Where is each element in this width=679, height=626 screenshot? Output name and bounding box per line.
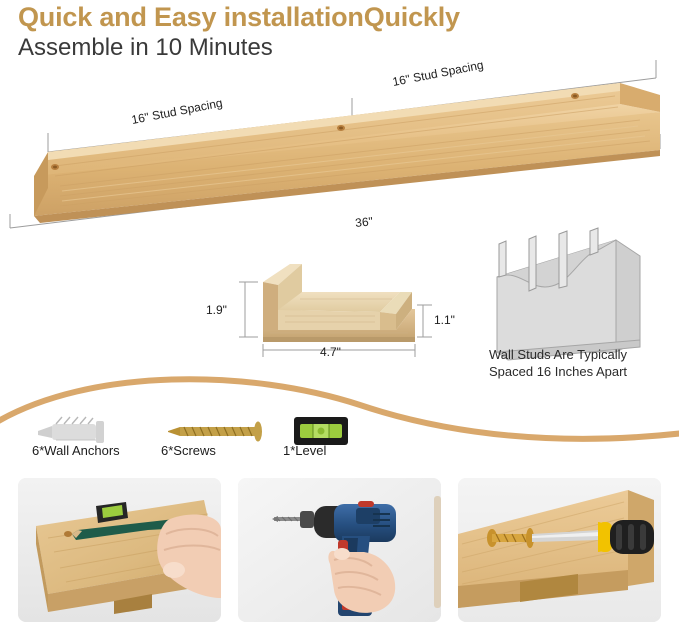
screw-icon (168, 422, 262, 442)
stud (559, 231, 567, 288)
stud (499, 241, 506, 277)
stud (590, 228, 598, 255)
photo-driving-screw (458, 478, 661, 622)
hardware-label-level: 1*Level (283, 443, 326, 458)
cross-section-height-label: 1.9" (206, 303, 227, 317)
photo-drilling-wall (238, 478, 441, 622)
hardware-icons (0, 405, 679, 475)
cross-section-width-label: 4.7" (320, 345, 341, 359)
hardware-label-screws: 6*Screws (161, 443, 216, 458)
cross-section-body (263, 264, 415, 342)
level-icon (294, 417, 348, 445)
wall-studs-caption-line-1: Wall Studs Are Typically (489, 346, 627, 363)
hardware-label-wall-anchors: 6*Wall Anchors (32, 443, 120, 458)
wall-studs-graphic (497, 228, 640, 360)
cross-section-lip-label: 1.1" (434, 313, 455, 327)
photo-marking-with-pencil (18, 478, 221, 622)
wall-anchor-icon (38, 417, 104, 443)
cross-section-diagram (0, 0, 679, 380)
stud (529, 236, 536, 291)
